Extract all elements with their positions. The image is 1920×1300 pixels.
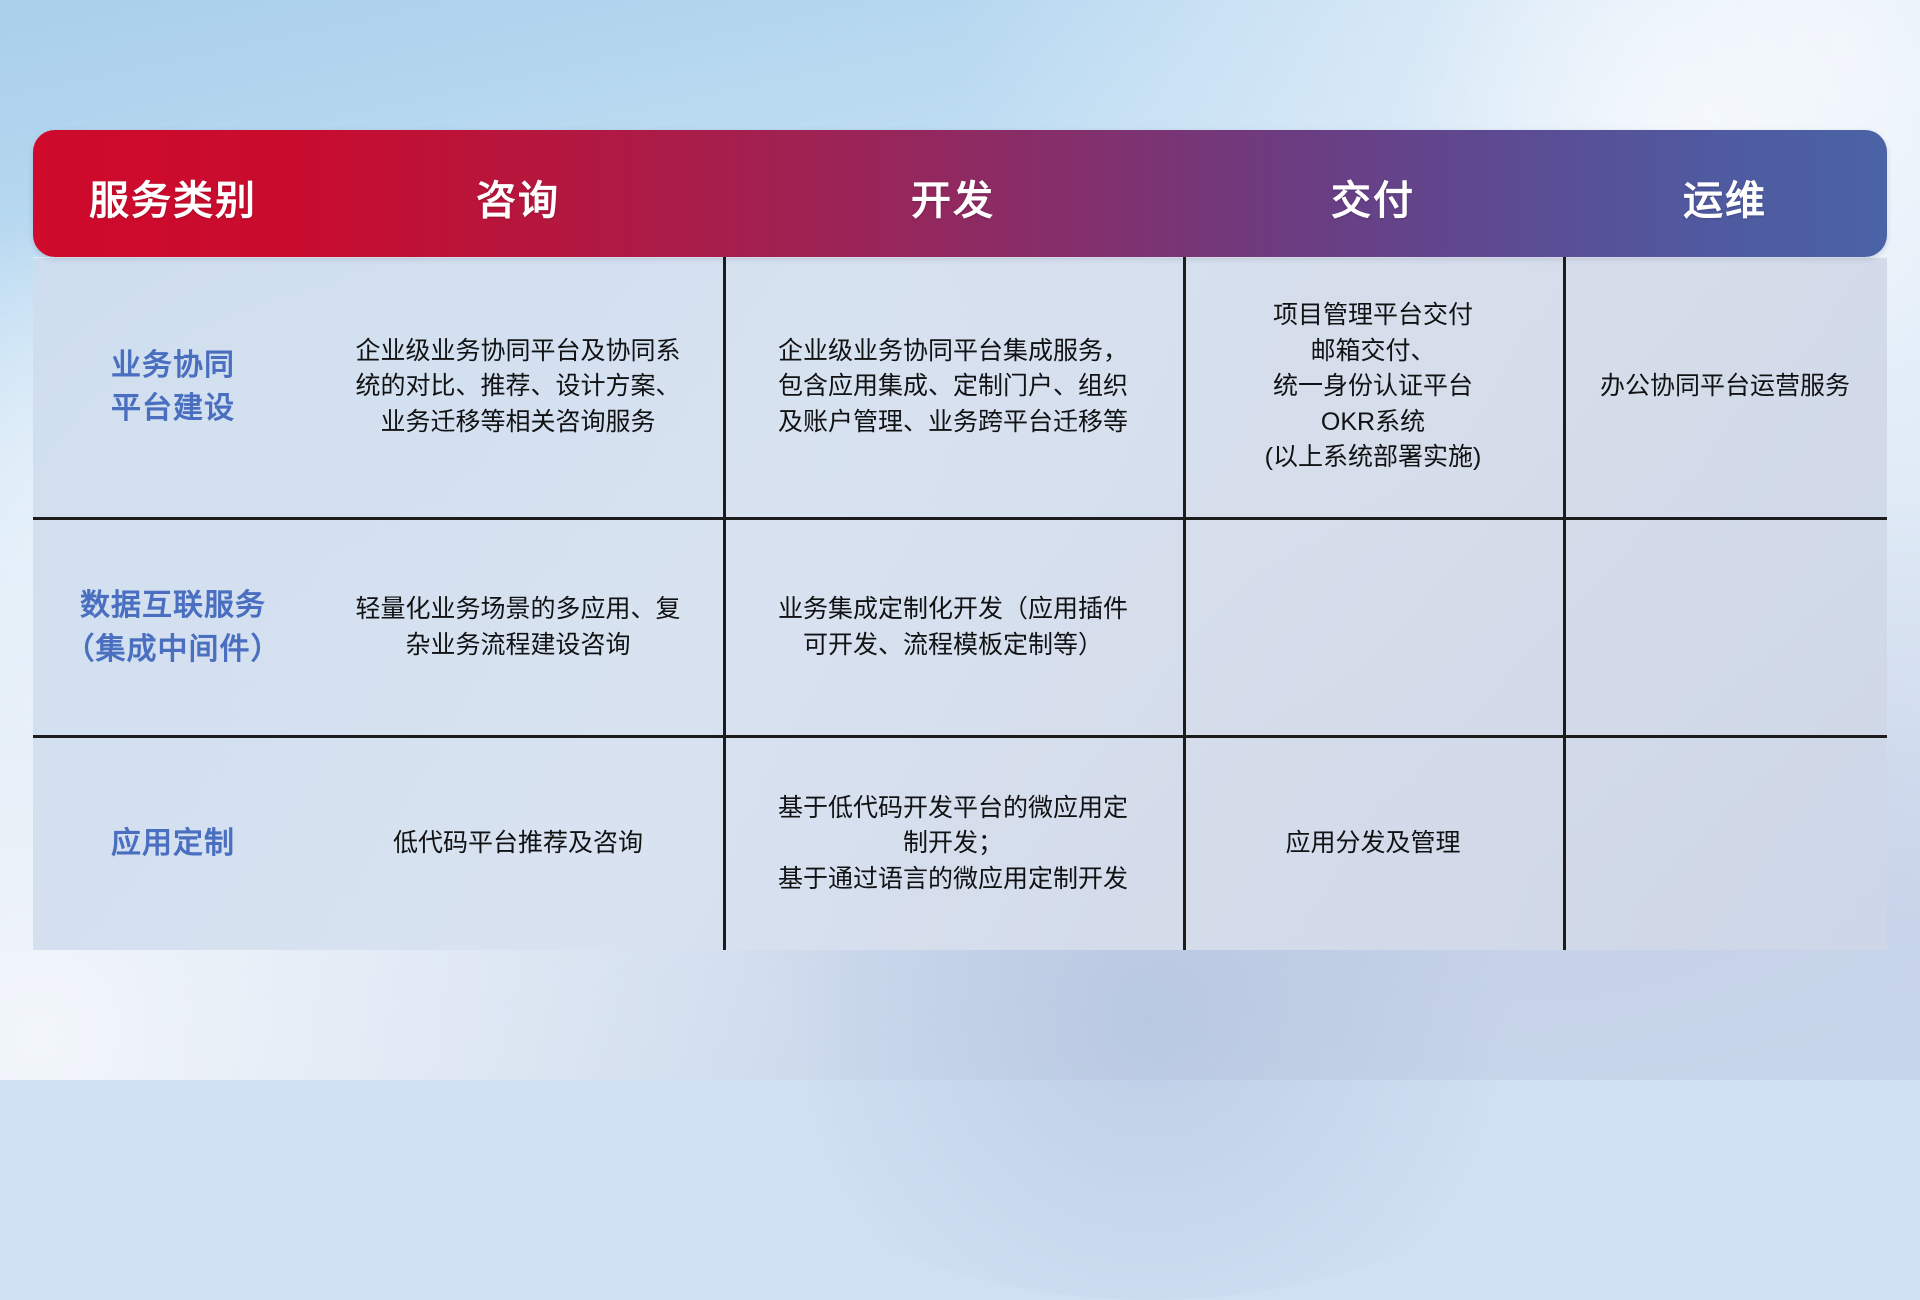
table-row: 业务协同 平台建设 企业级业务协同平台及协同系 统的对比、推荐、设计方案、 业务… — [33, 257, 1887, 517]
table-row: 应用定制 低代码平台推荐及咨询 基于低代码开发平台的微应用定 制开发； 基于通过… — [33, 738, 1887, 950]
cell-operations — [1563, 520, 1887, 735]
cell-consulting: 低代码平台推荐及咨询 — [313, 738, 723, 950]
row-category-label: 数据互联服务 （集成中间件） — [33, 520, 313, 735]
table-header-cell-category: 服务类别 — [33, 162, 313, 226]
cell-consulting: 企业级业务协同平台及协同系 统的对比、推荐、设计方案、 业务迁移等相关咨询服务 — [313, 257, 723, 517]
cell-delivery: 应用分发及管理 — [1183, 738, 1563, 950]
table-header-row: 服务类别 咨询 开发 交付 运维 — [33, 130, 1887, 257]
table-header-cell-development: 开发 — [723, 162, 1183, 226]
service-matrix-table: 服务类别 咨询 开发 交付 运维 业务协同 平台建设 企业级业务协同平台及协同系… — [33, 130, 1887, 950]
table-header-cell-operations: 运维 — [1563, 162, 1887, 226]
cell-operations: 办公协同平台运营服务 — [1563, 257, 1887, 517]
row-category-label: 业务协同 平台建设 — [33, 257, 313, 517]
cell-operations — [1563, 738, 1887, 950]
table-header-cell-delivery: 交付 — [1183, 162, 1563, 226]
table-header-cell-consulting: 咨询 — [313, 162, 723, 226]
cell-development: 业务集成定制化开发（应用插件 可开发、流程模板定制等） — [723, 520, 1183, 735]
cell-delivery: 项目管理平台交付 邮箱交付、 统一身份认证平台 OKR系统 (以上系统部署实施) — [1183, 257, 1563, 517]
cell-development: 基于低代码开发平台的微应用定 制开发； 基于通过语言的微应用定制开发 — [723, 738, 1183, 950]
cell-development: 企业级业务协同平台集成服务， 包含应用集成、定制门户、组织 及账户管理、业务跨平… — [723, 257, 1183, 517]
cell-delivery — [1183, 520, 1563, 735]
cell-consulting: 轻量化业务场景的多应用、复 杂业务流程建设咨询 — [313, 520, 723, 735]
table-row: 数据互联服务 （集成中间件） 轻量化业务场景的多应用、复 杂业务流程建设咨询 业… — [33, 520, 1887, 735]
row-category-label: 应用定制 — [33, 738, 313, 950]
